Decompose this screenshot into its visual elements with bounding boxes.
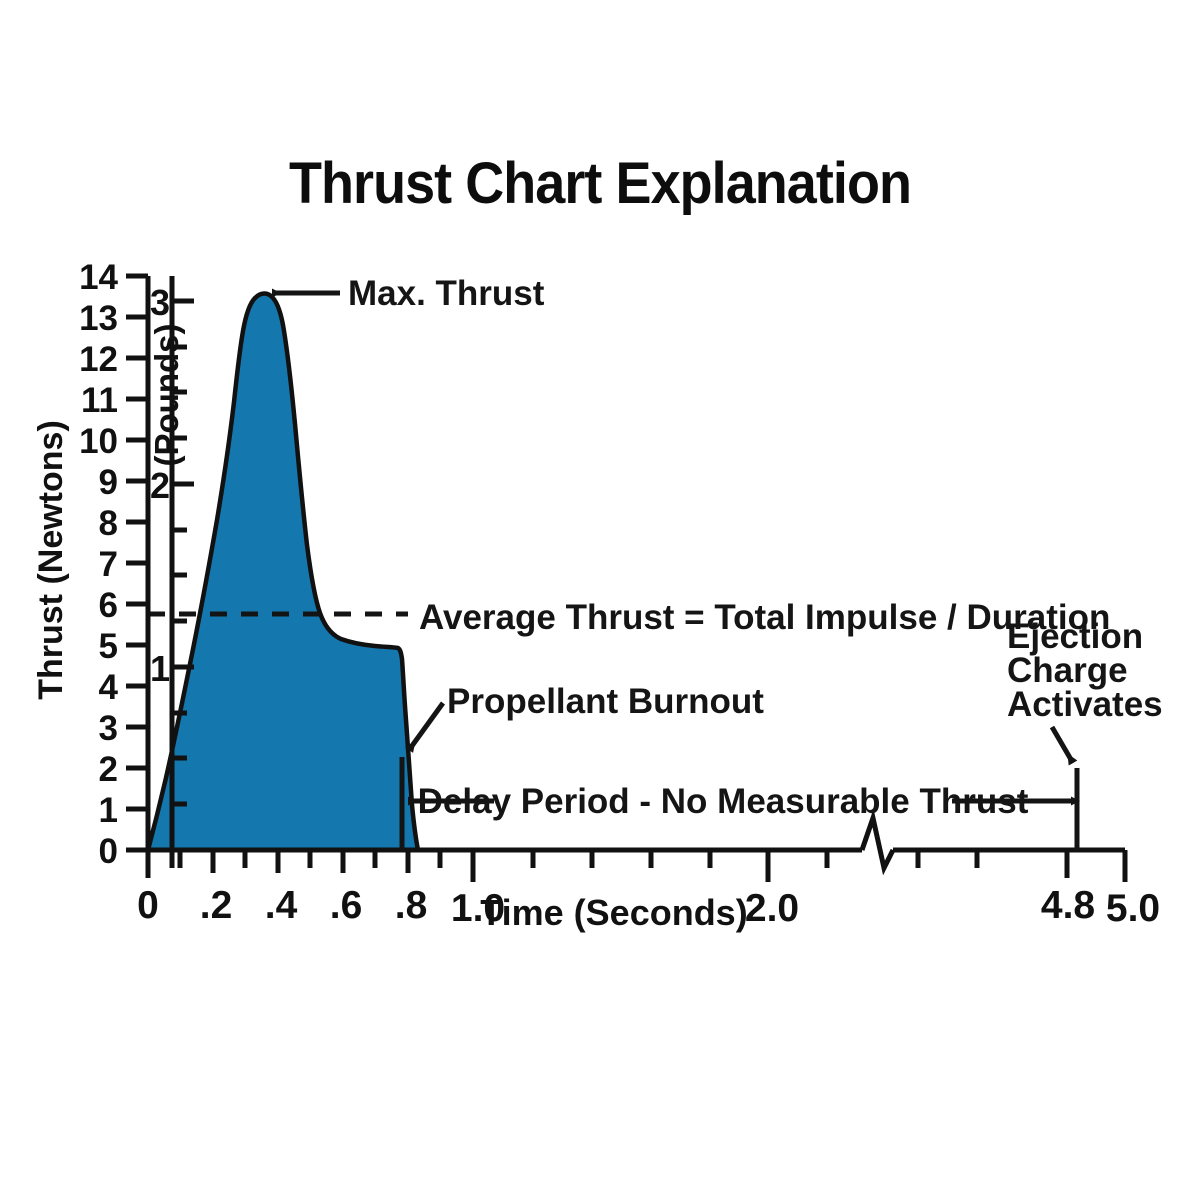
- y-tick-label-8: 8: [99, 504, 118, 543]
- y2-tick-label-2: 2: [150, 465, 170, 506]
- x-tick-label-48: 4.8: [1041, 884, 1095, 927]
- y-tick-label-11: 11: [81, 381, 118, 420]
- y-tick-label-13: 13: [79, 299, 118, 338]
- ejection-charge-label-line3: Activates: [1007, 685, 1163, 724]
- propellant-burnout-label: Propellant Burnout: [447, 682, 764, 721]
- y-tick-label-2: 2: [99, 750, 118, 789]
- x-tick-label-p6: .6: [330, 884, 363, 927]
- x-tick-label-p2: .2: [200, 884, 233, 927]
- y-tick-label-3: 3: [99, 709, 118, 748]
- delay-period-label: Delay Period - No Measurable Thrust: [418, 782, 1029, 821]
- ejection-charge-arrow: [1052, 727, 1073, 763]
- y-axis-newtons: 0 1 2 3 4 5 6 7 8 9 10 11 12 13 14 Thrus…: [32, 258, 148, 871]
- y-tick-label-9: 9: [99, 463, 118, 502]
- x-axis-break-zigzag: [862, 818, 893, 868]
- x-tick-label-p4: .4: [265, 884, 298, 927]
- ejection-charge-annotation: Ejection Charge Activates: [1007, 617, 1163, 850]
- thrust-curve-series: [148, 294, 418, 850]
- y-tick-label-12: 12: [79, 340, 118, 379]
- y-tick-label-10: 10: [79, 422, 118, 461]
- delay-period-annotation: Delay Period - No Measurable Thrust: [408, 782, 1071, 821]
- y-tick-label-5: 5: [99, 627, 118, 666]
- chart-page: Thrust Chart Explanation: [0, 0, 1200, 1200]
- y-tick-label-0: 0: [99, 832, 118, 871]
- y-tick-label-14: 14: [79, 258, 118, 297]
- thrust-chart: 0 1 2 3 4 5 6 7 8 9 10 11 12 13 14 Thrus…: [0, 0, 1200, 1200]
- y-tick-label-6: 6: [99, 586, 118, 625]
- y-axis-title: Thrust (Newtons): [32, 420, 70, 700]
- x-tick-label-5: 5.0: [1106, 887, 1160, 930]
- thrust-curve-fill: [148, 294, 418, 850]
- y2-tick-label-3: 3: [150, 282, 170, 323]
- y-tick-label-4: 4: [99, 668, 119, 707]
- y-tick-label-1: 1: [99, 791, 118, 830]
- x-tick-label-p8: .8: [395, 884, 428, 927]
- y2-axis-title: (Pounds): [148, 324, 185, 467]
- propellant-burnout-annotation: Propellant Burnout: [402, 682, 764, 850]
- y-tick-label-7: 7: [99, 545, 118, 584]
- x-tick-label-2: 2.0: [745, 887, 799, 930]
- x-tick-label-0: 0: [137, 884, 159, 927]
- x-axis-title: Time (Seconds): [480, 892, 747, 933]
- y2-tick-label-1: 1: [150, 648, 170, 689]
- propellant-burnout-arrow: [409, 703, 443, 750]
- max-thrust-label: Max. Thrust: [348, 274, 545, 313]
- max-thrust-annotation: Max. Thrust: [272, 274, 545, 313]
